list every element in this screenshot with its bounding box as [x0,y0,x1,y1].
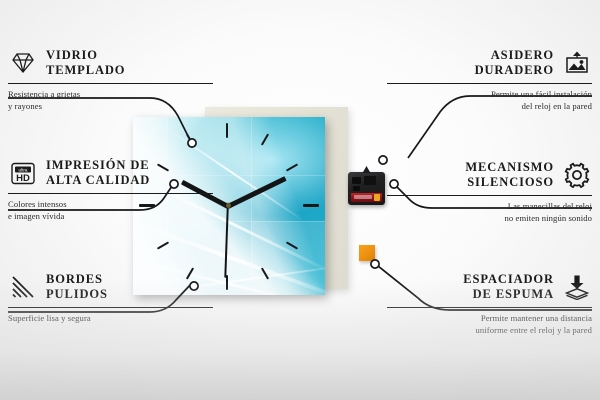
svg-text:HD: HD [16,173,30,184]
gear-icon [562,160,592,190]
mechanism-shaft [363,166,371,173]
feature-title-line2: DE ESPUMA [463,287,554,302]
feature-title-line1: ESPACIADOR [463,272,554,287]
feature-divider [387,83,592,85]
feature-header: ESPACIADOR DE ESPUMA [387,272,592,303]
feature-title: ASIDERO DURADERO [475,48,554,79]
clock-mechanism [348,172,385,205]
battery [351,193,382,202]
connector-node-hanger [379,156,387,164]
feature-divider [387,307,592,309]
mechanism-slot [353,186,360,191]
clock-tick [226,275,228,290]
feature-description: Resistencia a grietas y rayones [8,89,213,112]
infographic-canvas: VIDRIO TEMPLADO Resistencia a grietas y … [0,0,600,400]
feature-description: Permite mantener una distancia uniforme … [387,313,592,336]
ultra-hd-icon: ultra HD [8,158,38,188]
mechanism-slot [352,177,361,184]
feature-title-line2: PULIDOS [46,287,108,302]
feature-title-line1: MECANISMO [465,160,554,175]
feature-desc-line2: uniforme entre el reloj y la pared [387,325,592,337]
feature-title: VIDRIO TEMPLADO [46,48,125,79]
feature-title: IMPRESIÓN DE ALTA CALIDAD [46,158,150,189]
connector-node-foam [371,260,379,268]
feature-header: MECANISMO SILENCIOSO [387,160,592,191]
feature-desc-line2: y rayones [8,101,213,113]
feature-desc-line1: Permite una fácil instalación [387,89,592,101]
feature-header: ASIDERO DURADERO [387,48,592,79]
feature-title: BORDES PULIDOS [46,272,108,303]
feature-desc-line1: Superficie lisa y segura [8,313,213,325]
feature-title-line2: DURADERO [475,63,554,78]
clock-tick [226,123,228,138]
feature-title-line2: SILENCIOSO [465,175,554,190]
feature-title: MECANISMO SILENCIOSO [465,160,554,191]
feature-title-line1: BORDES [46,272,108,287]
feature-description: Permite una fácil instalación del reloj … [387,89,592,112]
clock-tick [303,204,319,207]
feature-espaciador-de-espuma: ESPACIADOR DE ESPUMA Permite mantener un… [387,272,592,336]
feature-header: BORDES PULIDOS [8,272,213,303]
svg-text:ultra: ultra [19,167,28,172]
arrow-onto-layers-icon [562,272,592,302]
mechanism-slot [364,176,376,185]
feature-divider [8,193,213,195]
feature-desc-line1: Permite mantener una distancia [387,313,592,325]
feature-title-line2: ALTA CALIDAD [46,173,150,188]
feature-desc-line2: no emiten ningún sonido [387,213,592,225]
feature-description: Superficie lisa y segura [8,313,213,325]
feature-description: Colores intensos e imagen vívida [8,199,213,222]
feature-desc-line1: Resistencia a grietas [8,89,213,101]
hanging-frame-icon [562,48,592,78]
feature-title-line1: IMPRESIÓN DE [46,158,150,173]
feature-impresion-alta-calidad: ultra HD IMPRESIÓN DE ALTA CALIDAD Color… [8,158,213,222]
clock-center-pin [226,203,231,208]
feature-bordes-pulidos: BORDES PULIDOS Superficie lisa y segura [8,272,213,325]
feature-title-line2: TEMPLADO [46,63,125,78]
feature-mecanismo-silencioso: MECANISMO SILENCIOSO Las manecillas del … [387,160,592,224]
feature-desc-line1: Las manecillas del reloj [387,201,592,213]
feature-description: Las manecillas del reloj no emiten ningú… [387,201,592,224]
feature-title-line1: ASIDERO [475,48,554,63]
feature-title-line1: VIDRIO [46,48,125,63]
feature-desc-line2: e imagen vívida [8,211,213,223]
feature-title: ESPACIADOR DE ESPUMA [463,272,554,303]
feature-desc-line2: del reloj en la pared [387,101,592,113]
feature-header: ultra HD IMPRESIÓN DE ALTA CALIDAD [8,158,213,189]
diagonal-lines-icon [8,272,38,302]
feature-vidrio-templado: VIDRIO TEMPLADO Resistencia a grietas y … [8,48,213,112]
feature-divider [8,83,213,85]
battery-positive-terminal [374,194,380,201]
foam-spacer [359,245,375,261]
feature-asidero-duradero: ASIDERO DURADERO Permite una fácil insta… [387,48,592,112]
texture-band [251,221,325,295]
battery-label [354,195,372,199]
feature-divider [8,307,213,309]
feature-desc-line1: Colores intensos [8,199,213,211]
diamond-icon [8,48,38,78]
feature-header: VIDRIO TEMPLADO [8,48,213,79]
feature-divider [387,195,592,197]
